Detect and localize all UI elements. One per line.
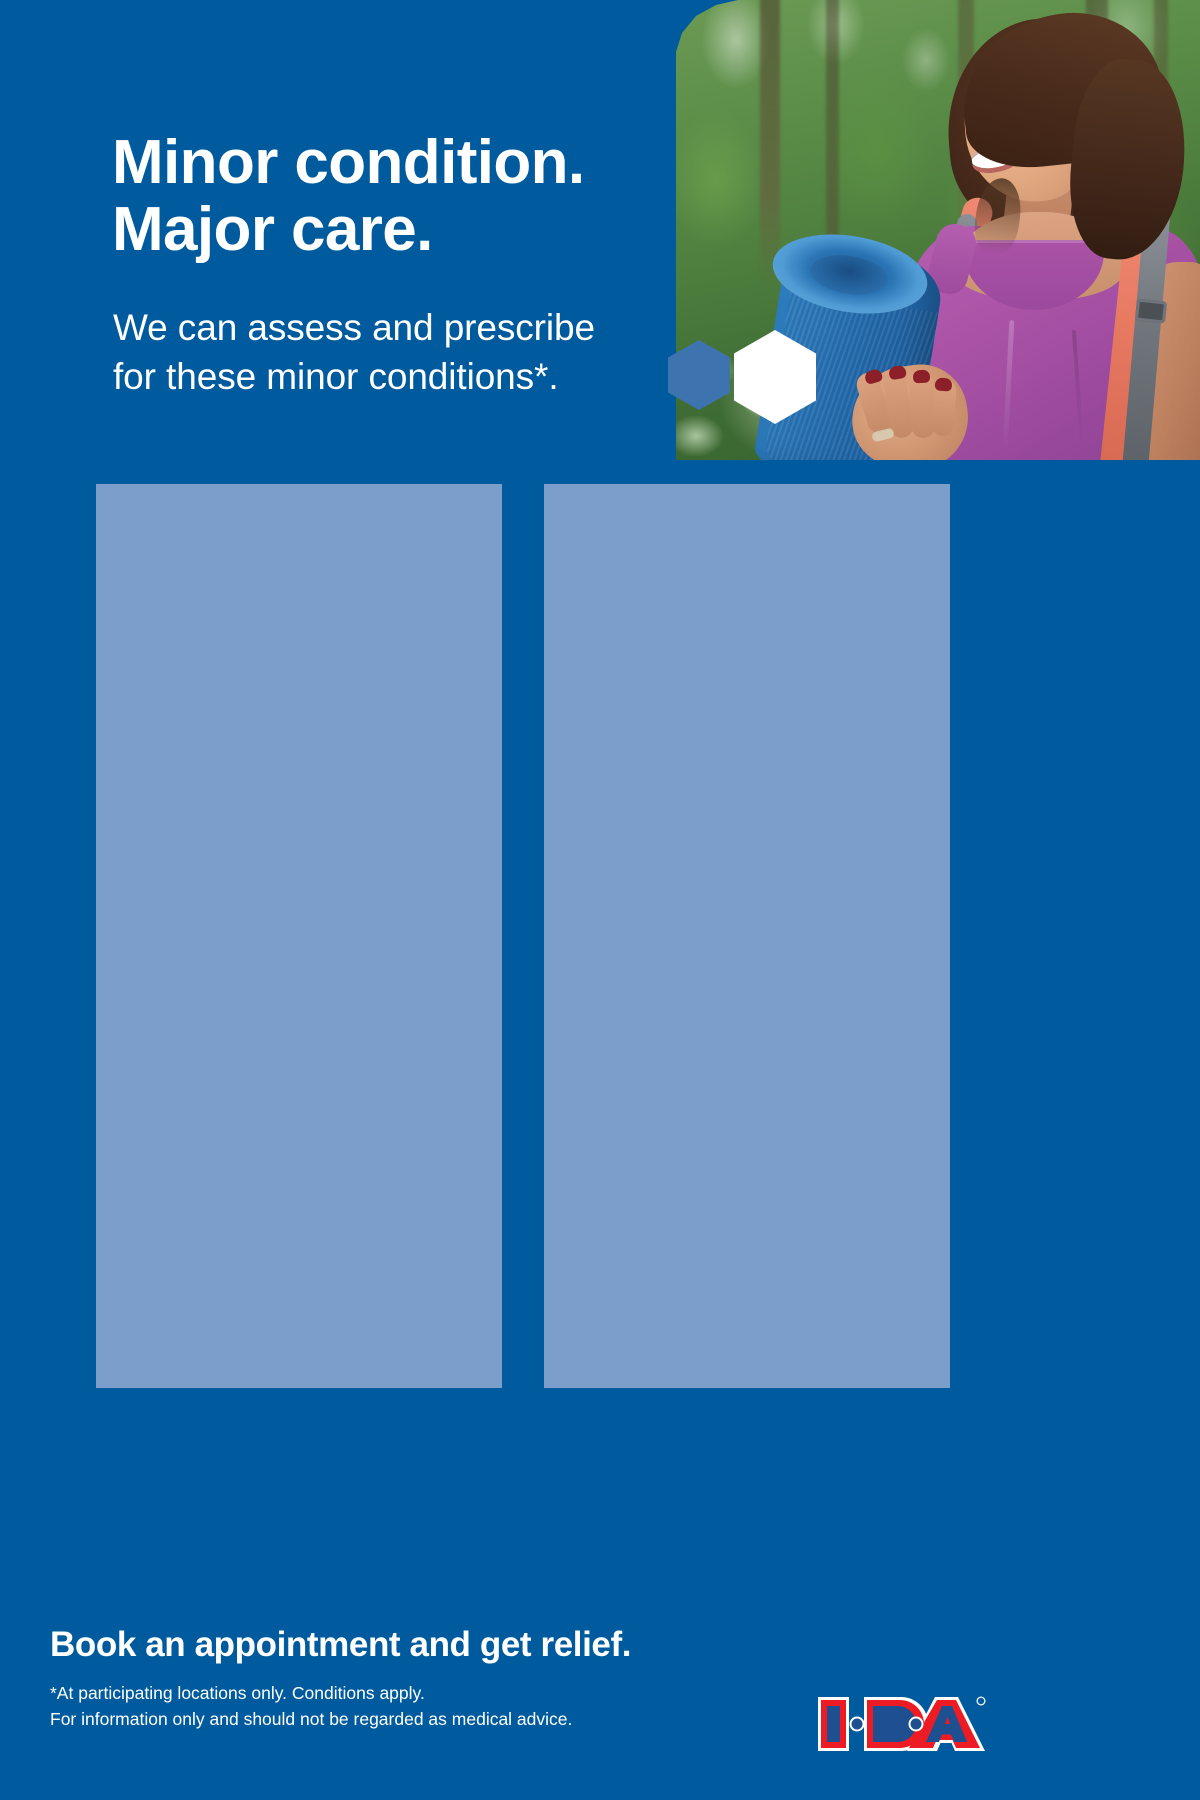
fingernail [935, 377, 953, 391]
ida-logo [816, 1693, 986, 1755]
page-subtitle: We can assess and prescribe for these mi… [113, 304, 595, 402]
conditions-panels [96, 484, 950, 1388]
conditions-list-right-panel [544, 484, 950, 1388]
footer-headline: Book an appointment and get relief. [50, 1625, 631, 1665]
poster-canvas: Minor condition. Major care. We can asse… [0, 0, 1200, 1800]
page-title: Minor condition. Major care. [112, 129, 585, 264]
fingernail [913, 370, 931, 384]
footer-disclaimer: *At participating locations only. Condit… [50, 1681, 572, 1732]
conditions-list-left-panel [96, 484, 502, 1388]
ida-logo-registered-mark [977, 1697, 986, 1706]
backpack-buckle [1135, 298, 1167, 323]
